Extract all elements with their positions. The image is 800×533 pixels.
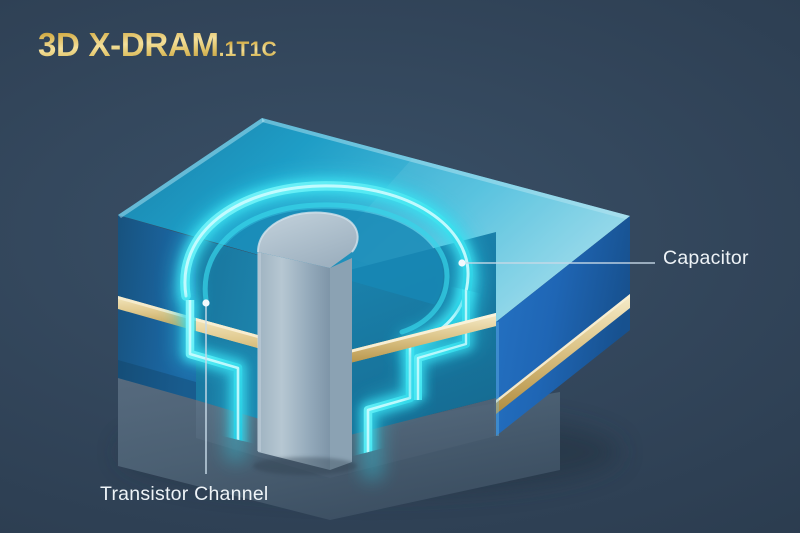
leader-dot-capacitor (458, 259, 465, 266)
title-suffix-text: .1T1C (219, 38, 277, 62)
transistor-channel-pillar (253, 213, 358, 475)
leader-dot-transistor (202, 299, 209, 306)
callout-label-capacitor: Capacitor (663, 247, 749, 270)
diagram-canvas: 3D X-DRAM .1T1C Capacitor Transistor Cha… (0, 0, 800, 533)
callout-label-transistor-channel: Transistor Channel (100, 483, 269, 506)
title-main-text: 3D X-DRAM (38, 26, 219, 64)
page-title: 3D X-DRAM .1T1C (38, 26, 277, 64)
